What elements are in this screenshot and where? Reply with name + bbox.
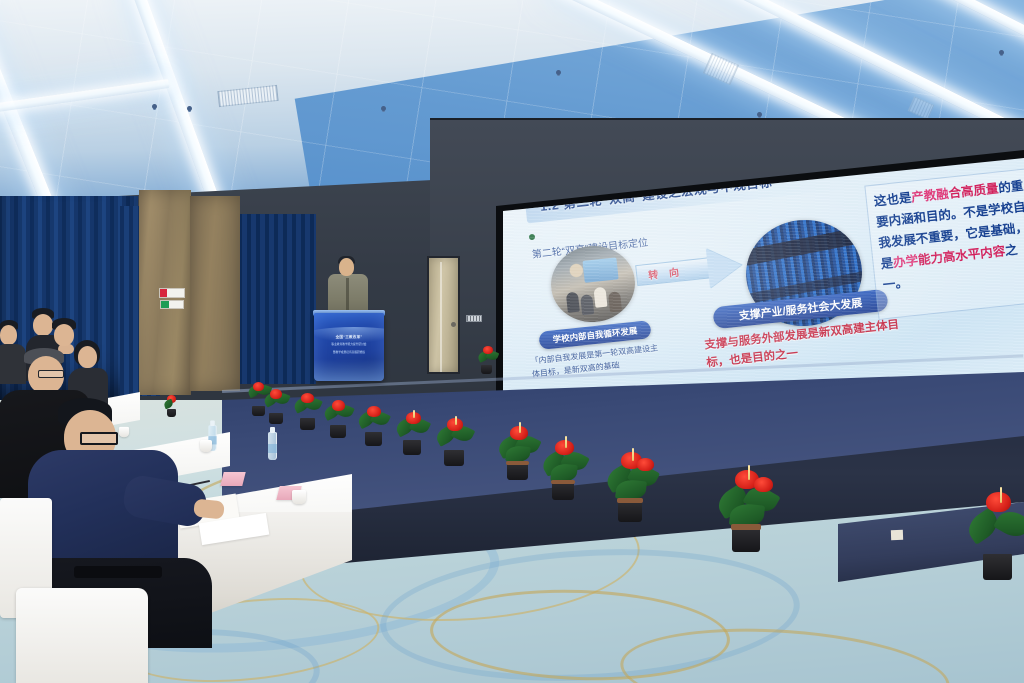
flower-bloom	[367, 406, 381, 417]
flower-spadix	[413, 410, 415, 418]
paper-cup	[119, 427, 129, 437]
pot	[983, 554, 1012, 580]
slide-bullet-dot-icon	[529, 234, 536, 241]
water-bottle	[268, 432, 277, 460]
pot-rim	[551, 480, 575, 484]
sprinkler-icon	[999, 50, 1004, 55]
eyeglasses-icon	[80, 432, 118, 445]
door-knob-icon	[451, 322, 456, 327]
pot-rim	[506, 461, 529, 465]
sprinkler-icon	[556, 70, 561, 75]
photo-person	[608, 291, 622, 312]
flower-pot	[476, 346, 498, 374]
paper-cup	[200, 440, 212, 452]
head	[33, 314, 53, 336]
sprinkler-icon	[381, 106, 386, 111]
name-card	[220, 472, 245, 486]
paper-cup	[292, 490, 306, 504]
pot	[365, 432, 382, 446]
pot	[444, 450, 464, 466]
sidebox-l5: 发展不重要，它	[890, 226, 979, 249]
flower-pot	[356, 404, 390, 446]
sidebox-l1-highlight: 产教融	[911, 187, 950, 205]
wall-sign-plate	[466, 315, 482, 322]
podium-bottom-glow	[314, 359, 384, 381]
flower-spadix	[1000, 487, 1002, 503]
flower-bloom	[270, 389, 282, 399]
belt	[74, 566, 162, 578]
photo-person	[593, 287, 607, 308]
sprinkler-icon	[152, 104, 157, 109]
pot	[481, 365, 492, 374]
flower-bloom	[332, 400, 345, 411]
head	[0, 325, 17, 345]
photo-projector-screen	[582, 257, 618, 282]
pot	[300, 418, 315, 430]
flower-pot	[163, 395, 181, 417]
pot	[269, 413, 283, 424]
flower-pot	[322, 398, 354, 438]
flower-bloom	[301, 393, 314, 403]
eyeglasses-icon	[38, 370, 64, 378]
pot	[618, 500, 642, 522]
flower-pot	[292, 392, 322, 430]
fire-safety-sign-icon	[159, 288, 185, 298]
torso	[0, 344, 26, 384]
pot	[403, 440, 421, 455]
flower-pot	[262, 388, 290, 424]
flower-spadix	[455, 416, 457, 425]
stage-step-marker	[891, 530, 903, 540]
door-right[interactable]	[427, 256, 460, 374]
flower-bloom	[637, 458, 654, 471]
hand	[193, 498, 225, 519]
conference-hall-photo: 1.2 第二轮“双高”建设之宏观与中观目标 第二轮“双高”建设目标定位 转 向 …	[0, 0, 1024, 683]
flower-bloom	[986, 492, 1011, 512]
head	[78, 346, 97, 368]
sidebox-l2-highlight: 合高质量	[948, 181, 999, 200]
flower-bloom	[754, 477, 773, 492]
fire-safety-sign-icon	[160, 300, 184, 309]
flower-pot	[394, 410, 430, 455]
wood-door-left[interactable]	[190, 196, 240, 391]
sidebox-l7-highlight: 能力高水平内容	[917, 244, 1006, 267]
flower-pot	[496, 424, 540, 480]
flower-pot	[434, 416, 474, 466]
pot-rim	[617, 498, 643, 503]
podium: 全国“三教改革” 职业教育教学能力提升研讨会 暨教学成果培育高级研修班	[314, 313, 384, 381]
slide-side-textbox: 这也是产教融合高质量的重要内涵和目的。不是学校自我发展不重要，它是基础，是办学能…	[864, 167, 1024, 320]
flower-pot	[716, 468, 778, 552]
flower-pot	[966, 490, 1024, 580]
flower-bloom	[483, 346, 493, 354]
sidebox-l1a: 这也是	[873, 191, 912, 209]
photo-person	[580, 294, 594, 315]
arrow-head	[706, 245, 744, 288]
head	[54, 324, 74, 346]
flower-pot	[540, 438, 588, 500]
sidebox-l3: 内涵和目的。	[888, 206, 964, 228]
flower-pot	[604, 450, 658, 522]
stage-curtain-center	[238, 214, 316, 384]
sprinkler-icon	[757, 112, 762, 117]
transition-arrow-icon: 转 向	[634, 244, 754, 296]
pot	[167, 409, 176, 417]
speaker-jacket-zipper	[346, 278, 349, 314]
podium-subtitle-line1: 职业教育教学能力提升研讨会	[318, 343, 380, 347]
flower-spadix	[632, 448, 634, 461]
pot	[732, 527, 760, 552]
flower-spadix	[748, 465, 750, 480]
podium-subtitle-line2: 暨教学成果培育高级研修班	[318, 351, 380, 355]
podium-title: 全国“三教改革”	[320, 335, 378, 340]
flower-spadix	[519, 422, 521, 433]
flower-spadix	[565, 436, 567, 448]
photo-person	[566, 292, 580, 313]
pot-rim	[731, 524, 761, 530]
pot	[330, 425, 346, 438]
sidebox-l6-highlight: 办学	[892, 253, 918, 270]
speaker-head	[339, 258, 354, 276]
sprinkler-icon	[187, 106, 192, 111]
chair	[16, 588, 148, 683]
